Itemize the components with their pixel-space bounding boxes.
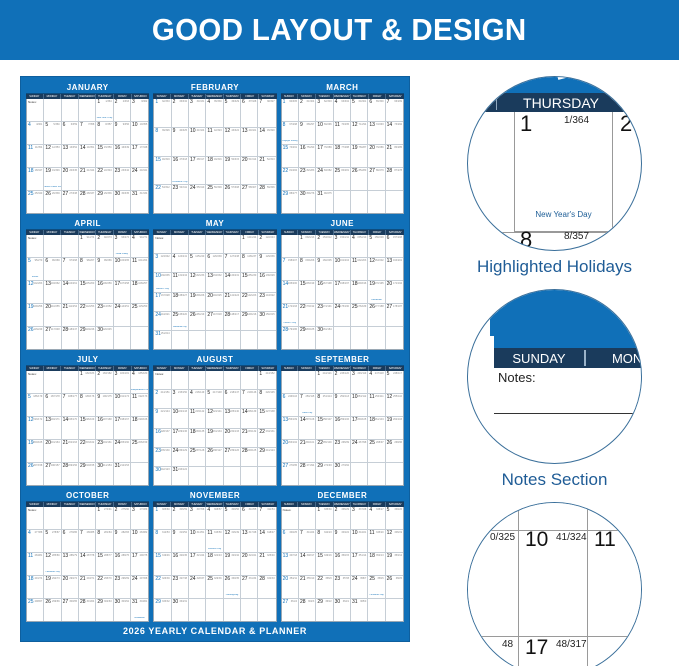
day-cell[interactable]: 4124/241 [172,254,189,272]
day-cell[interactable]: 24297/68 [131,576,148,598]
day-cell[interactable]: 27117/248 [44,327,61,349]
day-cell[interactable]: 16136/229 [258,273,275,291]
day-cell[interactable]: 4185/180Independence Day [131,371,148,393]
day-cell[interactable]: 13194/171 [44,417,61,439]
day-cell[interactable]: 22142/223 [241,293,258,311]
day-cell[interactable]: 5217/148 [206,390,223,408]
day-cell[interactable]: 19200/165 [27,440,44,462]
day-cell[interactable] [351,463,368,485]
day-cell[interactable]: 999/266 [96,258,113,280]
day-cell[interactable]: 25206/159 [131,440,148,462]
day-cell[interactable]: 88/357 [96,122,113,144]
day-cell[interactable]: 2657/308 [224,185,241,213]
day-cell[interactable] [172,371,189,389]
day-cell[interactable]: 17107/258 [114,281,131,303]
day-cell[interactable]: 20140/225 [206,293,223,311]
day-cell[interactable]: 6187/178 [44,394,61,416]
day-cell[interactable]: 22234/131 [258,429,275,447]
day-cell[interactable] [334,191,351,213]
day-cell[interactable]: 261/304 [299,99,316,121]
day-cell[interactable]: 21264/101 [299,440,316,462]
day-cell[interactable]: 8312/53 [154,530,171,552]
day-cell[interactable] [62,235,79,257]
day-cell[interactable] [334,327,351,349]
day-cell[interactable]: 2685/280 [351,168,368,190]
day-cell[interactable]: 29363/2 [316,599,333,621]
day-cell[interactable]: 1213/152 [258,371,275,389]
day-cell[interactable]: 21325/40 [258,553,275,575]
day-cell[interactable]: 14134/231 [224,273,241,291]
day-cell[interactable]: 6126/239 [206,254,223,272]
day-cell[interactable]: 2253/312 [154,185,171,213]
day-cell[interactable]: 1473/292 [386,122,403,144]
day-cell[interactable]: 9190/175 [96,394,113,416]
day-cell[interactable]: 10130/235Mother's Day [154,273,171,291]
day-cell[interactable]: 22295/70 [96,576,113,598]
day-cell[interactable]: 665/300 [368,99,385,121]
day-cell[interactable]: 2153/212 [316,235,333,257]
day-cell[interactable]: 362/303 [316,99,333,121]
day-cell[interactable]: 1244/121 [316,371,333,393]
day-cell[interactable]: 15166/199 [299,281,316,303]
day-cell[interactable]: 21355/10 [299,576,316,598]
day-cell[interactable]: 393/272Good Friday [114,235,131,257]
day-cell[interactable]: 27208/157 [44,463,61,485]
day-cell[interactable]: 14287/78 [79,553,96,575]
day-cell[interactable] [282,371,299,393]
day-cell[interactable] [189,331,206,349]
day-cell[interactable]: 31243/122 [172,467,189,485]
day-cell[interactable]: 16289/76 [114,553,131,575]
day-cell[interactable]: 22326/39 [154,576,171,598]
day-cell[interactable]: 1212/353 [44,145,61,167]
day-cell[interactable]: 17168/197 [334,281,351,303]
day-cell[interactable]: 17198/167 [114,417,131,439]
day-cell[interactable]: 6249/116 [282,394,299,416]
day-cell[interactable]: 11315/50Veterans Day [206,530,223,552]
day-cell[interactable] [258,599,275,621]
day-cell[interactable] [241,371,258,389]
day-cell[interactable]: 1010/355 [131,122,148,144]
day-cell[interactable]: 19170/195Juneteenth [368,281,385,303]
day-cell[interactable]: 1170/295 [334,122,351,144]
day-cell[interactable]: 1675/290 [299,145,316,167]
day-cell[interactable] [241,599,258,621]
day-cell[interactable]: 16320/45 [172,553,189,575]
day-cell[interactable]: 10344/21 [351,530,368,552]
day-cell[interactable]: 21111/254 [62,304,79,326]
day-cell[interactable] [189,371,206,389]
day-cell[interactable]: 18261/104 [368,417,385,439]
day-cell[interactable]: 191/274 [79,235,96,257]
day-cell[interactable]: 24328/37 [189,576,206,598]
day-cell[interactable]: Notes: [282,507,299,529]
day-cell[interactable]: 21202/163 [62,440,79,462]
day-cell[interactable]: 26207/158 [27,463,44,485]
day-cell[interactable]: 738/327 [258,99,275,127]
day-cell[interactable]: Notes: [27,235,44,257]
day-cell[interactable]: 26116/249 [27,327,44,349]
day-cell[interactable]: 31212/153 [114,463,131,485]
day-cell[interactable]: 12163/202 [368,258,385,280]
day-cell[interactable]: 8342/23 [316,530,333,552]
day-cell[interactable]: 1616/349 [114,145,131,167]
day-cell[interactable]: 1182/183 [79,371,96,393]
day-cell[interactable]: 20201/164 [44,440,61,462]
day-cell[interactable] [386,599,403,621]
day-cell[interactable]: 1142/323 [206,128,223,156]
day-cell[interactable]: 940/325 [172,128,189,156]
day-cell[interactable]: 12193/172 [27,417,44,439]
day-cell[interactable]: 11345/20 [368,530,385,552]
day-cell[interactable]: 2336/29 [334,507,351,529]
day-cell[interactable]: 9313/52 [172,530,189,552]
day-cell[interactable]: 4155/210 [351,235,368,257]
day-cell[interactable]: 2758/307 [241,185,258,213]
day-cell[interactable]: 26238/127 [206,448,223,466]
day-cell[interactable]: 14104/261 [62,281,79,303]
day-cell[interactable]: 24114/251 [114,304,131,326]
day-cell[interactable]: 17290/75 [131,553,148,575]
day-cell[interactable]: 99/356 [114,122,131,144]
day-cell[interactable]: 28271/94 [299,463,316,485]
day-cell[interactable] [62,371,79,393]
day-cell[interactable]: 28148/217 [224,312,241,330]
day-cell[interactable]: 15105/260 [79,281,96,303]
day-cell[interactable] [368,463,385,485]
day-cell[interactable]: 24358/7 [351,576,368,598]
day-cell[interactable]: 4308/57 [206,507,223,529]
day-cell[interactable]: 15135/230 [241,273,258,291]
day-cell[interactable]: 23357/8 [334,576,351,598]
day-cell[interactable]: Notes: [27,99,44,121]
day-cell[interactable]: 2281/284 [282,168,299,190]
day-cell[interactable]: 26269/96 [386,440,403,462]
day-cell[interactable]: 12316/49 [224,530,241,552]
day-cell[interactable]: 18169/196 [351,281,368,303]
day-cell[interactable]: 27147/218 [206,312,223,330]
day-cell[interactable]: 1305/60 [154,507,171,529]
day-cell[interactable]: 8128/237 [241,254,258,272]
day-cell[interactable]: 16350/15 [334,553,351,575]
day-cell[interactable]: 536/329 [224,99,241,127]
day-cell[interactable]: 2556/309 [206,185,223,213]
day-cell[interactable]: 18352/13 [368,553,385,575]
day-cell[interactable]: 2306/59 [172,507,189,529]
day-cell[interactable]: 1546/319 [154,157,171,185]
day-cell[interactable]: 3215/150 [172,390,189,408]
day-cell[interactable]: 463/302 [334,99,351,121]
day-cell[interactable]: 23266/99 [334,440,351,462]
day-cell[interactable]: 18291/74 [27,576,44,598]
day-cell[interactable]: 5186/179 [27,394,44,416]
day-cell[interactable]: 23204/161 [96,440,113,462]
day-cell[interactable]: 20110/255 [44,304,61,326]
day-cell[interactable]: 22203/162 [79,440,96,462]
day-cell[interactable]: 13133/232 [206,273,223,291]
day-cell[interactable]: 2183/182 [96,371,113,393]
day-cell[interactable]: 28332/33 [258,576,275,598]
day-cell[interactable]: 2051/314 [241,157,258,185]
day-cell[interactable]: 2121/344 [79,168,96,190]
day-cell[interactable]: 2354/311 [172,185,189,213]
day-cell[interactable]: 17137/228 [154,293,171,311]
day-cell[interactable]: 25176/189 [351,304,368,326]
day-cell[interactable]: 1069/296 [316,122,333,144]
day-cell[interactable]: 132/333 [154,99,171,127]
day-cell[interactable]: 24175/190 [334,304,351,326]
day-cell[interactable]: 11223/142 [189,409,206,427]
day-cell[interactable]: 2828/337 [79,191,96,213]
day-cell[interactable]: 30242/123 [154,467,171,485]
day-cell[interactable]: 1574/291 [282,145,299,167]
day-cell[interactable]: 23235/130 [154,448,171,466]
day-cell[interactable]: 2584/281 [334,168,351,190]
day-cell[interactable]: 9252/113 [334,394,351,416]
day-cell[interactable]: 3030/335 [114,191,131,213]
day-cell[interactable]: 2323/342 [114,168,131,190]
day-cell[interactable]: 797/268 [62,258,79,280]
day-cell[interactable] [206,235,223,253]
day-cell[interactable]: 2626/339 [44,191,61,213]
day-cell[interactable]: 2275/90 [114,507,131,529]
day-cell[interactable]: 19353/12 [386,553,403,575]
day-cell[interactable]: 31365/0 [351,599,368,621]
day-cell[interactable]: 55/360 [44,122,61,144]
day-cell[interactable]: 26299/66 [44,599,61,621]
day-cell[interactable]: 292/273 [96,235,113,257]
day-cell[interactable]: 3154/211 [334,235,351,257]
day-cell[interactable]: 6310/55 [241,507,258,529]
day-cell[interactable]: 5278/87 [44,530,61,552]
day-cell[interactable] [79,507,96,529]
day-cell[interactable]: 1776/289 [316,145,333,167]
day-cell[interactable] [79,99,96,121]
day-cell[interactable]: 22173/192 [299,304,316,326]
day-cell[interactable]: 30150/215 [258,312,275,330]
day-cell[interactable] [62,507,79,529]
day-cell[interactable] [44,371,61,393]
day-cell[interactable]: 25268/97 [368,440,385,462]
day-cell[interactable]: 1372/293 [368,122,385,144]
day-cell[interactable] [386,327,403,349]
day-cell[interactable]: 1919/346Martin Luther King Jr. Day [44,168,61,190]
day-cell[interactable]: 11284/81 [27,553,44,575]
day-cell[interactable]: 27361/4 [282,599,299,621]
day-cell[interactable]: 9282/83 [114,530,131,552]
day-cell[interactable] [282,235,299,257]
day-cell[interactable]: 696/269 [44,258,61,280]
day-cell[interactable]: 28209/156 [62,463,79,485]
day-cell[interactable]: 11162/203 [351,258,368,280]
day-cell[interactable]: 29180/185 [299,327,316,349]
day-cell[interactable]: 28179/186 [282,327,299,349]
day-cell[interactable]: 27270/95 [282,463,299,485]
day-cell[interactable]: 2424/341 [131,168,148,190]
day-cell[interactable]: 18322/43 [206,553,223,575]
day-cell[interactable]: 29210/155 [79,463,96,485]
notes-box[interactable]: Notes: [494,368,642,414]
day-cell[interactable]: 968/297 [299,122,316,144]
day-cell[interactable]: 3089/276 [299,191,316,213]
day-cell[interactable] [386,463,403,485]
day-cell[interactable]: 494/271 [131,235,148,257]
day-cell[interactable]: 28362/3 [299,599,316,621]
day-cell[interactable]: 27178/187 [386,304,403,326]
day-cell[interactable]: 12346/19 [386,530,403,552]
day-cell[interactable]: 1717/348 [131,145,148,167]
day-cell[interactable]: 2214/151 [154,390,171,408]
day-cell[interactable]: 16106/259 [96,281,113,303]
day-cell[interactable]: 14348/17 [299,553,316,575]
day-cell[interactable]: 10314/51 [189,530,206,552]
day-cell[interactable] [368,327,385,349]
day-cell[interactable]: 2727/338 [62,191,79,213]
day-cell[interactable]: 19109/256 [27,304,44,326]
day-cell[interactable]: 29119/246 [79,327,96,349]
day-cell[interactable]: 15258/107 [316,417,333,439]
day-cell[interactable]: 26146/219 [189,312,206,330]
day-cell[interactable]: 14257/108 [299,417,316,439]
day-cell[interactable] [131,327,148,349]
day-cell[interactable]: 1748/317 [189,157,206,185]
day-cell[interactable] [299,371,316,393]
day-cell[interactable]: 20263/102 [282,440,299,462]
day-cell[interactable]: 7250/115Labor Day [299,394,316,416]
day-cell[interactable]: 27300/65 [62,599,79,621]
day-cell[interactable]: 31151/214 [154,331,171,349]
day-cell[interactable]: 5156/209 [368,235,385,257]
day-cell[interactable]: 26360/5 [386,576,403,598]
day-cell[interactable]: 25145/220Memorial Day [172,312,189,330]
day-cell[interactable]: 13103/262 [44,281,61,303]
day-cell[interactable]: 30211/154 [96,463,113,485]
day-cell[interactable] [299,507,316,529]
day-cell[interactable]: 6157/208 [386,235,403,257]
day-cell[interactable]: Notes: [154,235,171,253]
day-cell[interactable]: 8189/176 [79,394,96,416]
day-cell[interactable]: 1950/315 [224,157,241,185]
day-cell[interactable]: 9129/236 [258,254,275,272]
day-cell[interactable]: 9160/205 [316,258,333,280]
day-cell[interactable]: 25329/36 [206,576,223,598]
day-cell[interactable]: 1243/322 [224,128,241,156]
day-cell[interactable] [241,467,258,485]
day-cell[interactable]: 4247/118 [368,371,385,393]
day-cell[interactable]: 18108/257 [131,281,148,303]
day-cell[interactable]: 29149/216 [241,312,258,330]
day-cell[interactable]: 7219/146 [241,390,258,408]
day-cell[interactable]: 16167/198 [316,281,333,303]
day-cell[interactable]: 12255/110 [386,394,403,416]
day-cell[interactable]: 9343/22 [334,530,351,552]
day-cell[interactable]: 16259/106 [334,417,351,439]
day-cell[interactable] [351,327,368,349]
day-cell[interactable]: 435/330 [206,99,223,127]
day-cell[interactable] [206,599,223,621]
day-cell[interactable] [172,331,189,349]
day-cell[interactable]: 2152/313 [258,157,275,185]
day-cell[interactable]: 23113/252 [96,304,113,326]
day-cell[interactable]: 2079/286 [368,145,385,167]
day-cell[interactable]: 1111/354 [27,145,44,167]
day-cell[interactable]: 1515/350 [96,145,113,167]
day-cell[interactable]: 1152/213 [299,235,316,257]
day-cell[interactable]: 21172/193Father's Day [282,304,299,326]
day-cell[interactable]: 29241/124 [258,448,275,466]
day-cell[interactable]: 1041/324 [189,128,206,156]
day-cell[interactable] [44,235,61,257]
day-cell[interactable]: 11192/173 [131,394,148,416]
day-cell[interactable] [368,599,385,621]
day-cell[interactable]: 233/332 [172,99,189,127]
day-cell[interactable]: 17260/105 [351,417,368,439]
day-cell[interactable]: 595/270Easter [27,258,44,280]
day-cell[interactable]: 30303/62 [114,599,131,621]
day-cell[interactable]: 30364/1 [334,599,351,621]
day-cell[interactable]: 1414/351 [79,145,96,167]
day-cell[interactable]: 23143/222 [258,293,275,311]
day-cell[interactable] [189,599,206,621]
day-cell[interactable]: 11131/234 [172,273,189,291]
day-cell[interactable]: 637/328 [241,99,258,127]
day-cell[interactable]: 10222/143 [172,409,189,427]
day-cell[interactable]: 31304/61Halloween [131,599,148,621]
day-cell[interactable]: 13256/109 [282,417,299,439]
day-cell[interactable]: 25359/6Christmas Day [368,576,385,598]
day-cell[interactable]: 18138/227 [172,293,189,311]
day-cell[interactable]: 2988/277 [282,191,299,213]
day-cell[interactable]: 7280/85 [79,530,96,552]
day-cell[interactable]: 1818/347 [27,168,44,190]
day-cell[interactable]: 867/298Daylight Saving [282,122,299,144]
day-cell[interactable]: 19323/42 [224,553,241,575]
day-cell[interactable]: 1313/352 [62,145,79,167]
day-cell[interactable] [206,467,223,485]
day-cell[interactable]: 10100/265 [114,258,131,280]
day-cell[interactable]: 15349/16 [316,553,333,575]
day-cell[interactable]: 7158/207 [282,258,299,280]
day-cell[interactable]: 4277/88 [27,530,44,552]
day-cell[interactable]: 22265/100 [316,440,333,462]
day-cell[interactable]: 22356/9 [316,576,333,598]
day-cell[interactable]: 23296/69 [114,576,131,598]
day-cell[interactable]: 17351/14 [351,553,368,575]
day-cell[interactable]: 21294/71 [79,576,96,598]
day-cell[interactable]: 25237/128 [189,448,206,466]
day-cell[interactable]: 839/326 [154,128,171,156]
day-cell[interactable]: 30181/184 [316,327,333,349]
day-cell[interactable]: 2245/120 [334,371,351,393]
day-cell[interactable]: 25298/67 [27,599,44,621]
day-cell[interactable]: 19262/103 [386,417,403,439]
day-cell[interactable]: 8159/206 [299,258,316,280]
day-cell[interactable]: 77/358 [79,122,96,144]
day-cell[interactable]: 5309/56 [224,507,241,529]
day-cell[interactable]: 8251/114 [316,394,333,416]
day-cell[interactable]: 2222/343 [96,168,113,190]
day-cell[interactable]: 24267/98 [351,440,368,462]
day-cell[interactable]: 3184/181 [114,371,131,393]
day-cell[interactable]: 10191/174 [114,394,131,416]
day-cell[interactable]: 2180/285 [386,145,403,167]
day-cell[interactable]: 10253/112 [351,394,368,416]
day-cell[interactable]: 19292/73 [44,576,61,598]
day-cell[interactable]: 33/362 [131,99,148,121]
day-cell[interactable]: 1877/288 [334,145,351,167]
day-cell[interactable]: Notes: [27,371,44,393]
day-cell[interactable]: 24144/221 [154,312,171,330]
